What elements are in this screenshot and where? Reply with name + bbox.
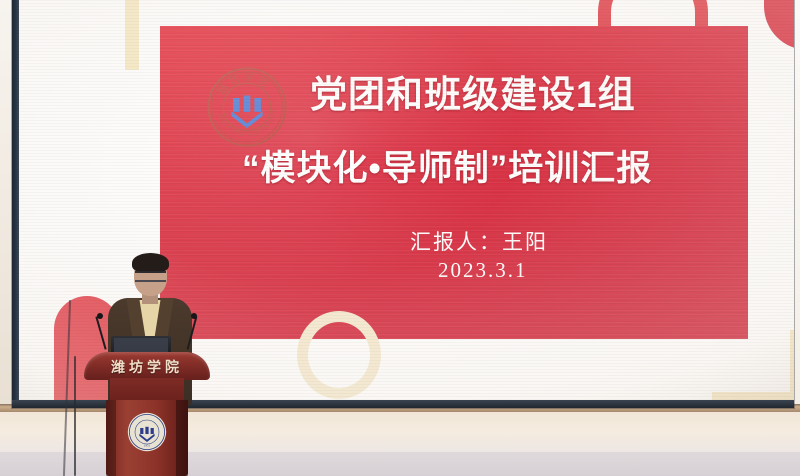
presenter-hair — [132, 253, 169, 273]
cream-corner-bracket-bottom-right-icon — [712, 330, 794, 405]
slide-red-banner: 1951 潍坊学院 WEIFANG UNIVERSITY 党团和班级建设1组 “… — [160, 26, 748, 339]
slide-presenter-line: 汇报人：王阳 — [410, 226, 548, 256]
podium-neck — [110, 378, 184, 402]
podium-nameplate: 潍坊学院 — [84, 357, 210, 377]
podium-shade-left — [106, 400, 116, 476]
cream-ring-icon — [297, 311, 381, 399]
slide-title-main: 党团和班级建设1组 — [310, 76, 636, 113]
svg-text:1951: 1951 — [240, 125, 255, 132]
svg-text:1951: 1951 — [144, 443, 151, 447]
weifang-university-seal-icon: 1951 潍坊学院 WEIFANG UNIVERSITY — [206, 66, 288, 148]
glasses-icon — [135, 271, 166, 282]
presentation-photo: 1951 潍坊学院 WEIFANG UNIVERSITY 党团和班级建设1组 “… — [0, 0, 800, 476]
podium-top-surface: 潍坊学院 — [84, 352, 210, 380]
microphone-head-left-icon — [97, 313, 103, 319]
screen-bezel-left — [12, 0, 19, 408]
slide-title-main-wrapper: 党团和班级建设1组 — [310, 76, 636, 113]
podium-cable — [74, 356, 76, 476]
podium-university-seal-icon: 1951 — [127, 412, 167, 452]
red-corner-blob-icon — [764, 0, 794, 50]
microphone-head-right-icon — [191, 313, 197, 319]
podium-shade-right — [176, 400, 188, 476]
speaker-podium: 潍坊学院 1951 — [84, 352, 210, 476]
slide-date-line: 2023.3.1 — [438, 258, 528, 283]
slide-title-sub: “模块化•导师制”培训汇报 — [242, 151, 652, 186]
cream-corner-bracket-top-left-icon — [125, 0, 201, 70]
